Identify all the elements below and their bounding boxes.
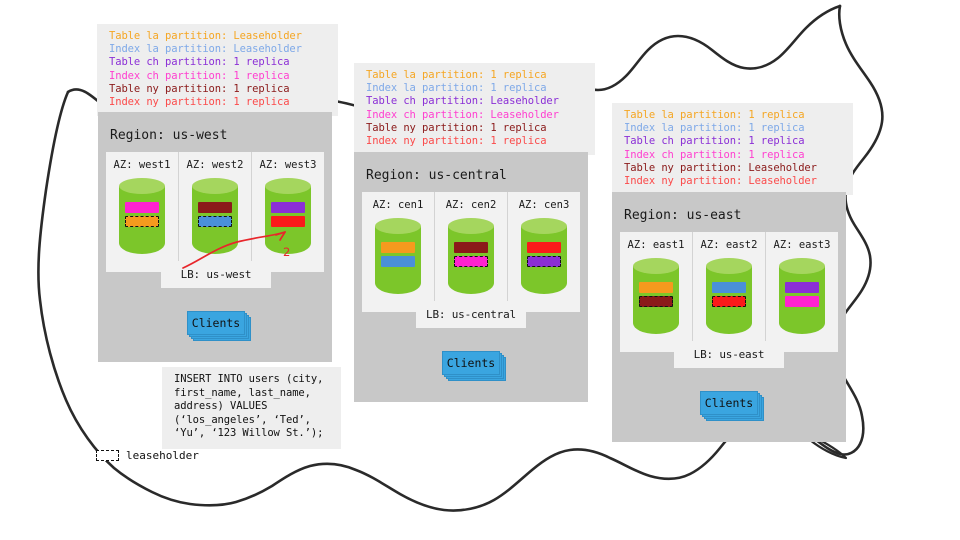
database-cylinder — [706, 258, 752, 334]
az-column: AZ: cen3 — [508, 192, 580, 312]
arrow-label-2: 2 — [283, 245, 290, 259]
az-column: AZ: east1 — [620, 232, 693, 352]
partition-replica — [639, 282, 673, 293]
clients-button-us-central[interactable]: Clients — [442, 351, 500, 375]
dashed-box-swatch-icon — [96, 450, 119, 461]
partition-info-line: Table ch partition: 1 replica — [624, 135, 843, 148]
clients-button-us-east[interactable]: Clients — [700, 391, 758, 415]
partition-replica-leaseholder — [454, 256, 488, 267]
partition-replica — [271, 202, 305, 213]
legend-leaseholder: leaseholder — [96, 449, 199, 462]
partition-replica — [785, 282, 819, 293]
partition-info-line: Index ch partition: 1 replica — [624, 149, 843, 162]
az-column: AZ: east2 — [693, 232, 766, 352]
partition-info-line: Index la partition: 1 replica — [624, 122, 843, 135]
cylinder-top — [448, 218, 494, 234]
database-cylinder — [448, 218, 494, 294]
cylinder-top — [521, 218, 567, 234]
partition-info-line: Table ny partition: Leaseholder — [624, 162, 843, 175]
az-label: AZ: west3 — [252, 159, 324, 171]
az-label: AZ: west1 — [106, 159, 178, 171]
cylinder-top — [633, 258, 679, 274]
database-cylinder — [375, 218, 421, 294]
az-column: AZ: west1 — [106, 152, 179, 272]
cylinder-top — [265, 178, 311, 194]
info-block-us-west: Table la partition: LeaseholderIndex la … — [97, 24, 338, 116]
partition-replica-leaseholder — [712, 296, 746, 307]
cylinder-top — [706, 258, 752, 274]
partition-replica — [785, 296, 819, 307]
partition-info-line: Index la partition: 1 replica — [366, 82, 585, 95]
partition-replica — [198, 202, 232, 213]
partition-replica-leaseholder — [527, 256, 561, 267]
partition-info-line: Index ny partition: Leaseholder — [624, 175, 843, 188]
az-label: AZ: cen2 — [435, 199, 507, 211]
replication-arrow-us-west — [175, 222, 325, 282]
database-cylinder — [779, 258, 825, 334]
partition-replica — [381, 256, 415, 267]
az-label: AZ: cen1 — [362, 199, 434, 211]
cylinder-top — [375, 218, 421, 234]
az-label: AZ: west2 — [179, 159, 251, 171]
partition-replica-leaseholder — [125, 216, 159, 227]
az-column: AZ: cen2 — [435, 192, 508, 312]
partition-info-line: Table ny partition: 1 replica — [366, 122, 585, 135]
az-label: AZ: cen3 — [508, 199, 580, 211]
az-label: AZ: east3 — [766, 239, 838, 251]
region-title-us-west: Region: us-west — [110, 128, 227, 143]
legend-label: leaseholder — [126, 449, 199, 462]
partition-info-line: Index la partition: Leaseholder — [109, 43, 328, 56]
partition-replica — [381, 242, 415, 253]
lb-box-us-east[interactable]: LB: us-east — [674, 341, 784, 368]
partition-replica — [454, 242, 488, 253]
cylinder-top — [119, 178, 165, 194]
clients-button-us-west[interactable]: Clients — [187, 311, 245, 335]
database-cylinder — [119, 178, 165, 254]
cylinder-top — [192, 178, 238, 194]
region-title-us-east: Region: us-east — [624, 208, 741, 223]
az-container-us-central: AZ: cen1AZ: cen2AZ: cen3 — [362, 192, 580, 312]
partition-replica — [712, 282, 746, 293]
az-column: AZ: cen1 — [362, 192, 435, 312]
partition-info-line: Index ny partition: 1 replica — [109, 96, 328, 109]
clients-stack-us-east[interactable]: Clients — [700, 391, 764, 421]
partition-info-line: Index ch partition: 1 replica — [109, 70, 328, 83]
lb-box-us-central[interactable]: LB: us-central — [416, 301, 526, 328]
database-cylinder — [633, 258, 679, 334]
partition-replica — [125, 202, 159, 213]
partition-replica-leaseholder — [639, 296, 673, 307]
az-label: AZ: east1 — [620, 239, 692, 251]
partition-info-line: Table ny partition: 1 replica — [109, 83, 328, 96]
partition-info-line: Table la partition: 1 replica — [366, 69, 585, 82]
partition-info-line: Index ny partition: 1 replica — [366, 135, 585, 148]
az-container-us-east: AZ: east1AZ: east2AZ: east3 — [620, 232, 838, 352]
az-column: AZ: east3 — [766, 232, 838, 352]
partition-info-line: Table ch partition: Leaseholder — [366, 95, 585, 108]
partition-info-line: Index ch partition: Leaseholder — [366, 109, 585, 122]
partition-info-line: Table la partition: 1 replica — [624, 109, 843, 122]
az-label: AZ: east2 — [693, 239, 765, 251]
database-cylinder — [521, 218, 567, 294]
info-block-us-east: Table la partition: 1 replicaIndex la pa… — [612, 103, 853, 195]
sql-statement-block: INSERT INTO users (city, first_name, las… — [162, 367, 341, 449]
partition-info-line: Table la partition: Leaseholder — [109, 30, 328, 43]
clients-stack-us-west[interactable]: Clients — [187, 311, 251, 341]
partition-replica — [527, 242, 561, 253]
info-block-us-central: Table la partition: 1 replicaIndex la pa… — [354, 63, 595, 155]
cylinder-top — [779, 258, 825, 274]
partition-info-line: Table ch partition: 1 replica — [109, 56, 328, 69]
clients-stack-us-central[interactable]: Clients — [442, 351, 506, 381]
region-title-us-central: Region: us-central — [366, 168, 507, 183]
